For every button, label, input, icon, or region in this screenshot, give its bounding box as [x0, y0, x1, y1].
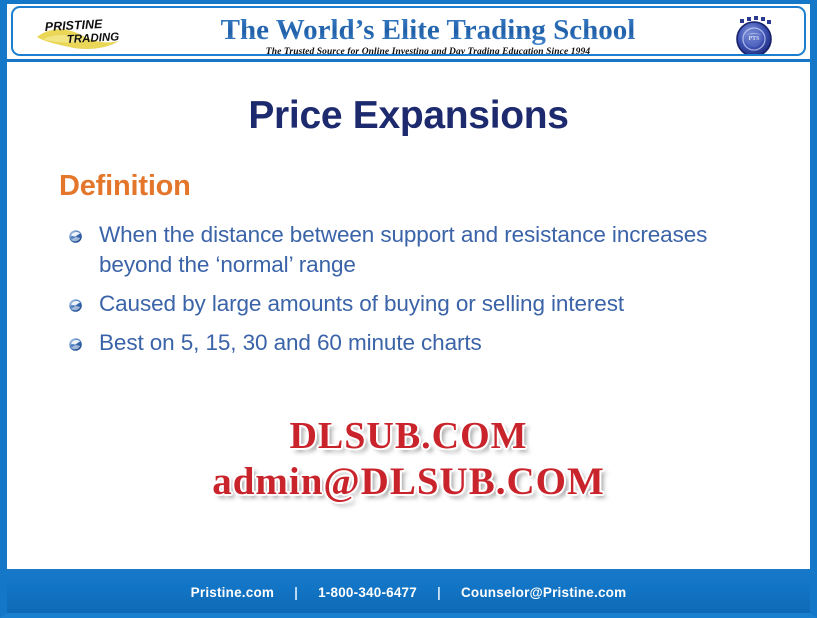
list-item-text: When the distance between support and re…: [99, 222, 707, 277]
slide-header: PRISTINE TRADING The World’s Elite Tradi…: [7, 4, 810, 62]
slide-frame: PRISTINE TRADING The World’s Elite Tradi…: [0, 0, 817, 618]
swirl-bullet-icon: [68, 337, 83, 352]
swirl-bullet-icon: [68, 298, 83, 313]
footer-contact-bar: Pristine.com | 1-800-340-6477 | Counselo…: [185, 585, 633, 600]
pristine-trading-logo: PRISTINE TRADING: [33, 17, 163, 53]
list-item-text: Caused by large amounts of buying or sel…: [99, 291, 624, 316]
watermark-site: DLSUB.COM: [7, 414, 810, 459]
footer-separator-1: |: [280, 585, 312, 600]
slide-footer: Pristine.com | 1-800-340-6477 | Counselo…: [7, 569, 810, 613]
footer-email-link[interactable]: Counselor@Pristine.com: [455, 585, 632, 600]
header-title: The World’s Elite Trading School: [168, 14, 688, 46]
watermark-email: admin@DLSUB.COM: [7, 459, 810, 504]
svg-text:PRISTINE: PRISTINE: [44, 17, 103, 34]
list-item-text: Best on 5, 15, 30 and 60 minute charts: [99, 330, 482, 355]
page-title: Price Expansions: [7, 94, 810, 138]
watermark-overlay: DLSUB.COM admin@DLSUB.COM: [7, 414, 810, 504]
list-item: Caused by large amounts of buying or sel…: [59, 289, 749, 319]
section-heading-definition: Definition: [59, 170, 191, 202]
footer-website-link[interactable]: Pristine.com: [185, 585, 280, 600]
swirl-bullet-icon: [68, 229, 83, 244]
header-subtitle: The Trusted Source for Online Investing …: [168, 47, 688, 56]
slide-body: Price Expansions Definition: [7, 62, 810, 569]
bullet-list: When the distance between support and re…: [59, 220, 749, 367]
svg-text:PTS: PTS: [748, 36, 760, 42]
header-inner-panel: PRISTINE TRADING The World’s Elite Tradi…: [11, 6, 806, 56]
list-item: When the distance between support and re…: [59, 220, 749, 280]
pristine-seal-badge: PTS: [730, 13, 778, 56]
list-item: Best on 5, 15, 30 and 60 minute charts: [59, 328, 749, 358]
footer-phone-number[interactable]: 1-800-340-6477: [312, 585, 423, 600]
footer-separator-2: |: [423, 585, 455, 600]
